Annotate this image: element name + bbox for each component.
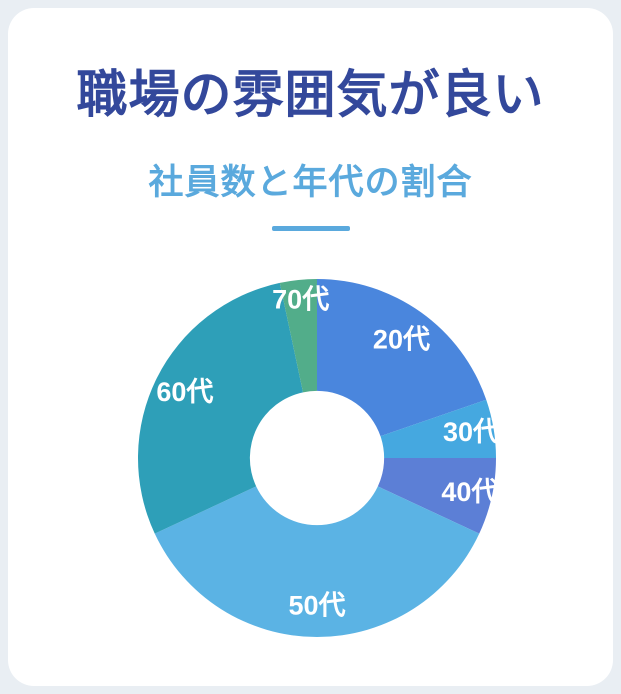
chart-card: 職場の雰囲気が良い 社員数と年代の割合 20代30代40代50代60代70代 [8, 8, 613, 686]
donut-slice-label-60代: 60代 [156, 377, 213, 407]
donut-slice-label-40代: 40代 [441, 477, 498, 507]
donut-slice-group [138, 279, 496, 637]
donut-slice-label-70代: 70代 [272, 284, 329, 314]
donut-chart-svg: 20代30代40代50代60代70代 [8, 254, 613, 654]
page-subtitle: 社員数と年代の割合 [8, 162, 613, 204]
donut-slice-60代[interactable] [138, 283, 303, 534]
donut-slice-label-20代: 20代 [373, 325, 430, 355]
donut-slice-label-30代: 30代 [443, 417, 500, 447]
subtitle-underline [272, 226, 350, 231]
donut-slice-label-50代: 50代 [288, 591, 345, 621]
page-title: 職場の雰囲気が良い [8, 66, 613, 125]
donut-chart: 20代30代40代50代60代70代 [8, 254, 613, 654]
